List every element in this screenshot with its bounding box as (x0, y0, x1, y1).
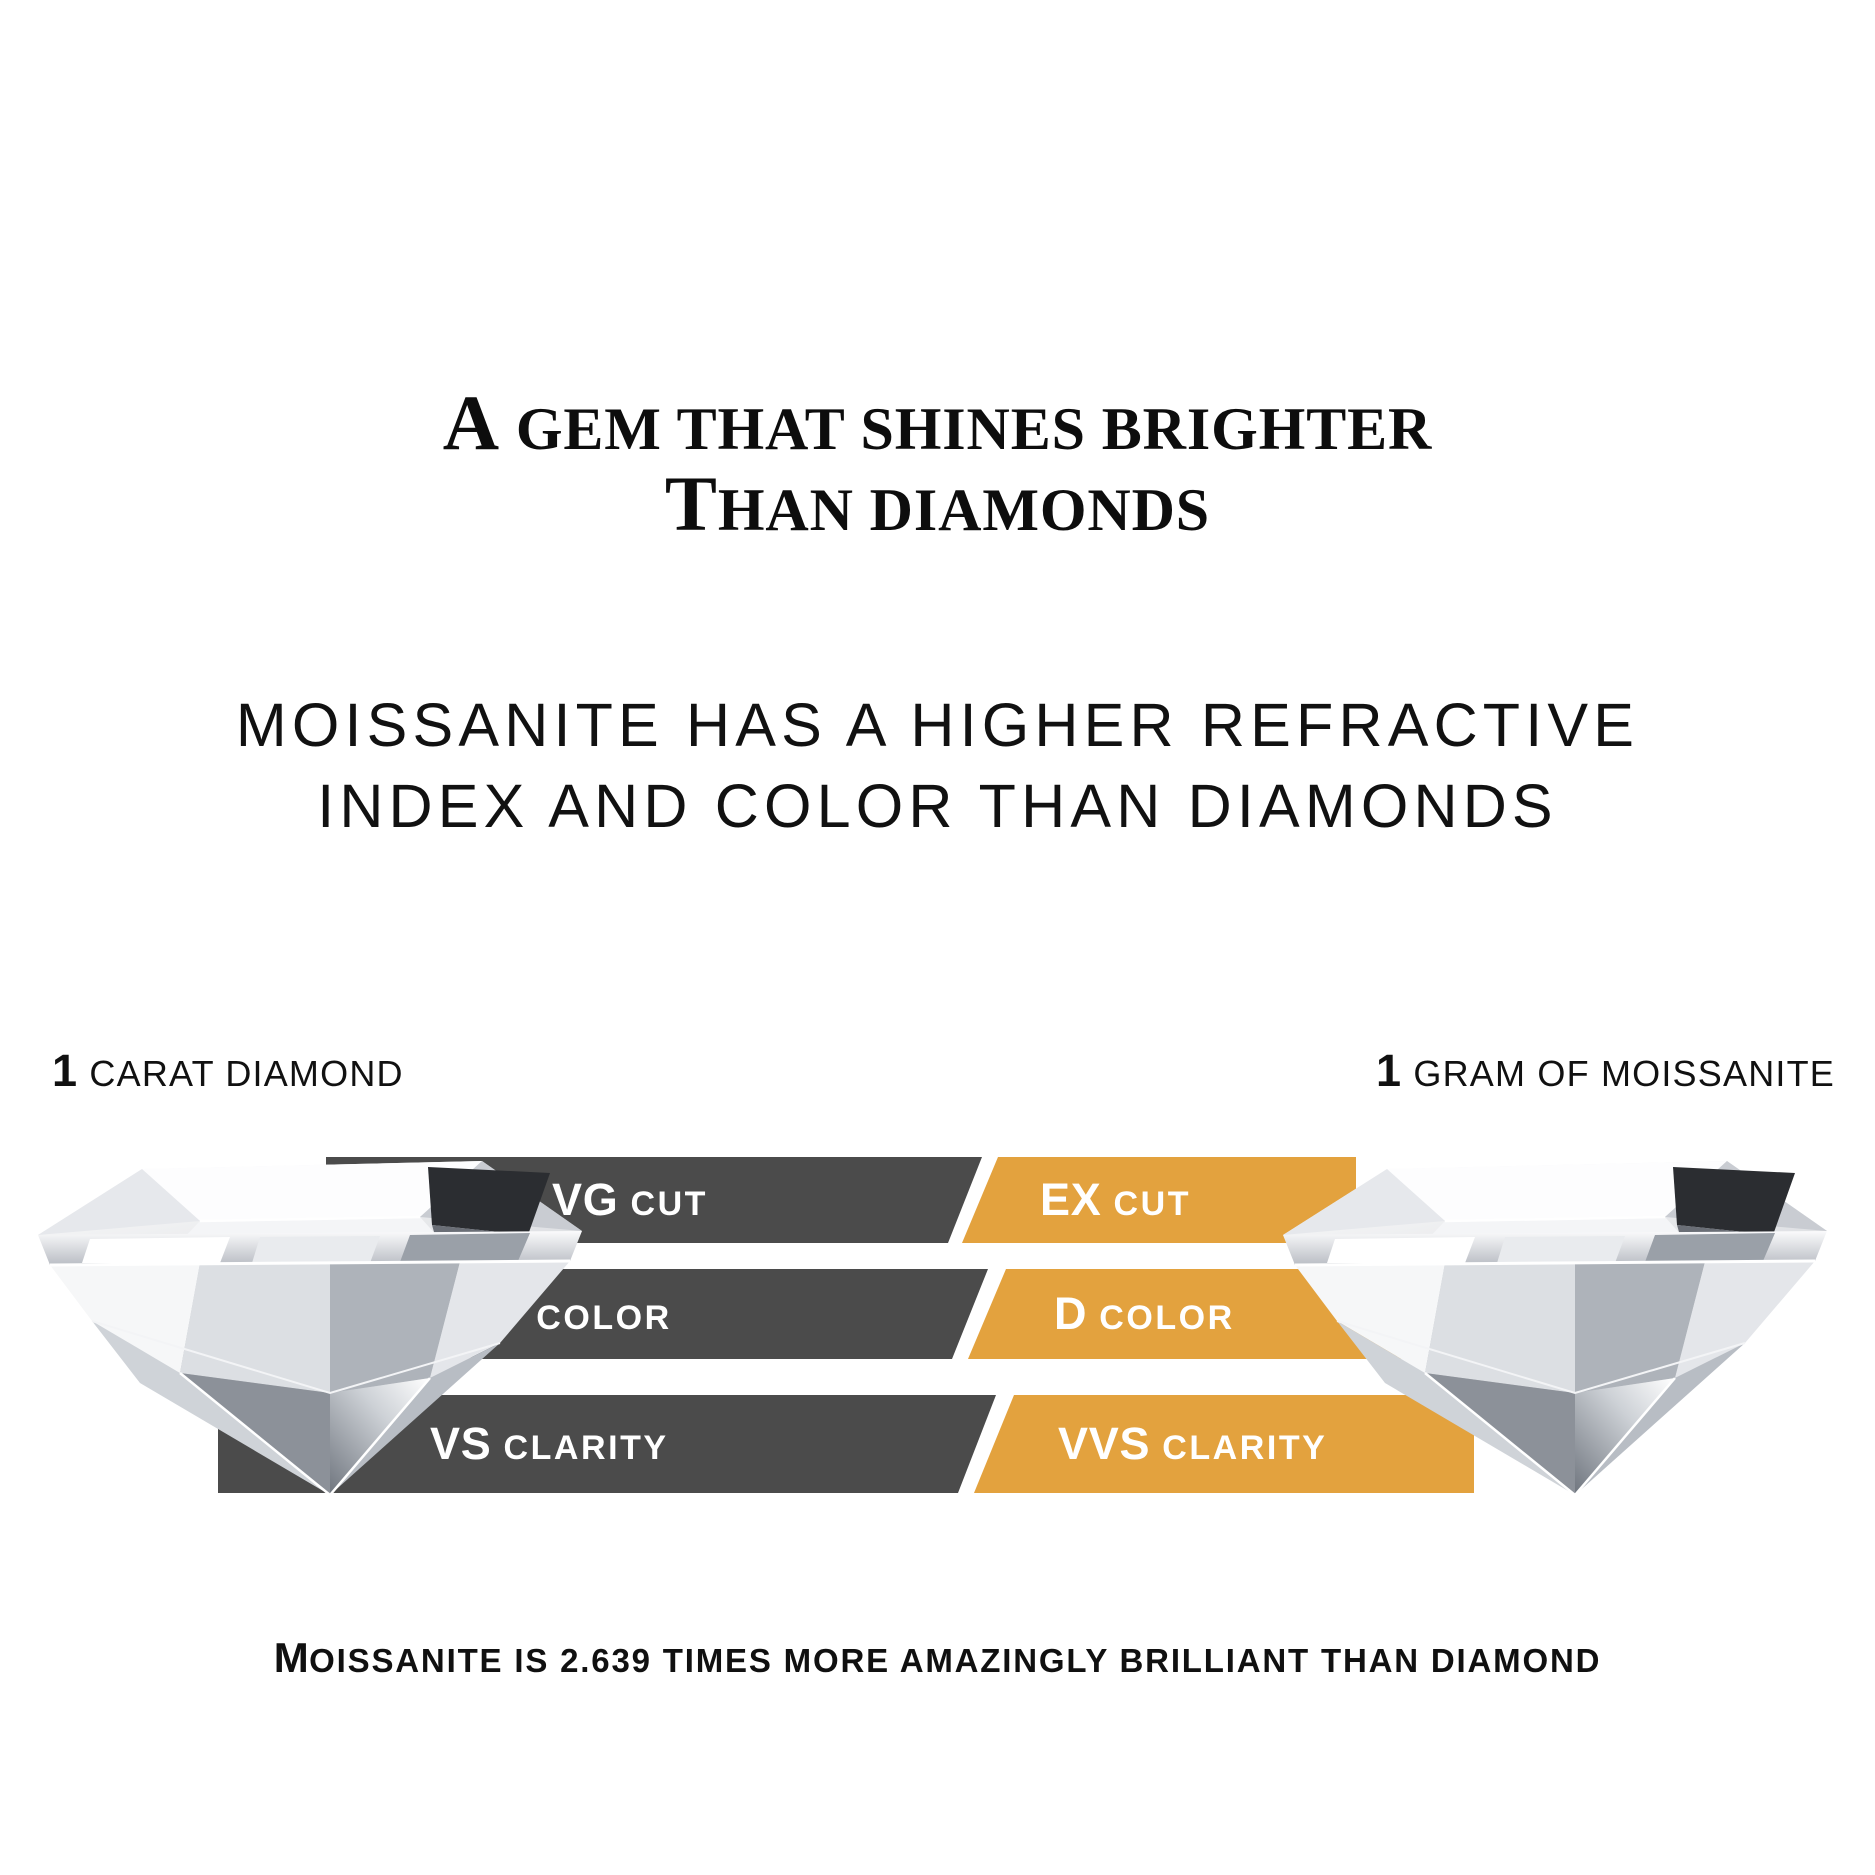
column-label-diamond-text: CARAT DIAMOND (78, 1053, 404, 1094)
column-label-diamond-number: 1 (52, 1045, 78, 1096)
footer-caption: MOISSANITE IS 2.639 TIMES MORE AMAZINGLY… (0, 1634, 1875, 1682)
subtitle-line-2: INDEX AND COLOR THAN DIAMONDS (0, 766, 1875, 847)
diamond-gem-icon (30, 1143, 590, 1503)
headline-line-1: A GEM THAT SHINES BRIGHTER (0, 382, 1875, 463)
bar-label-diamond-cut-rest: CUT (618, 1185, 708, 1223)
bar-label-moissanite-clarity-lead: VVS (1058, 1418, 1150, 1469)
infographic-page: A GEM THAT SHINES BRIGHTER THAN DIAMONDS… (0, 0, 1875, 1875)
moissanite-gem-icon (1265, 1143, 1845, 1503)
headline-line-1-rest: GEM THAT SHINES BRIGHTER (500, 396, 1432, 462)
bar-label-moissanite-cut: EX CUT (1040, 1174, 1191, 1226)
page-subtitle: MOISSANITE HAS A HIGHER REFRACTIVE INDEX… (0, 685, 1875, 846)
page-title: A GEM THAT SHINES BRIGHTER THAN DIAMONDS (0, 382, 1875, 544)
column-label-diamond: 1 CARAT DIAMOND (52, 1045, 404, 1097)
bar-label-moissanite-color-rest: COLOR (1087, 1299, 1235, 1337)
bar-label-moissanite-cut-lead: EX (1040, 1174, 1101, 1225)
footer-caption-rest: OISSANITE IS 2.639 TIMES MORE AMAZINGLY … (309, 1642, 1601, 1679)
headline-line-2: THAN DIAMONDS (0, 463, 1875, 544)
bar-label-moissanite-color: D COLOR (1054, 1288, 1235, 1340)
footer-caption-initial: M (274, 1634, 309, 1681)
subtitle-line-1: MOISSANITE HAS A HIGHER REFRACTIVE (0, 685, 1875, 766)
headline-line-2-initial: T (665, 460, 718, 547)
column-label-moissanite-number: 1 (1376, 1045, 1402, 1096)
bar-label-moissanite-color-lead: D (1054, 1288, 1087, 1339)
headline-line-1-initial: A (443, 379, 500, 466)
column-label-moissanite: 1 GRAM OF MOISSANITE (1376, 1045, 1835, 1097)
column-label-moissanite-text: GRAM OF MOISSANITE (1402, 1053, 1835, 1094)
bar-label-moissanite-cut-rest: CUT (1101, 1185, 1191, 1223)
headline-line-2-rest: HAN DIAMONDS (718, 477, 1210, 543)
comparison-section: 1 CARAT DIAMOND 1 GRAM OF MOISSANITE VG … (0, 1045, 1875, 1545)
